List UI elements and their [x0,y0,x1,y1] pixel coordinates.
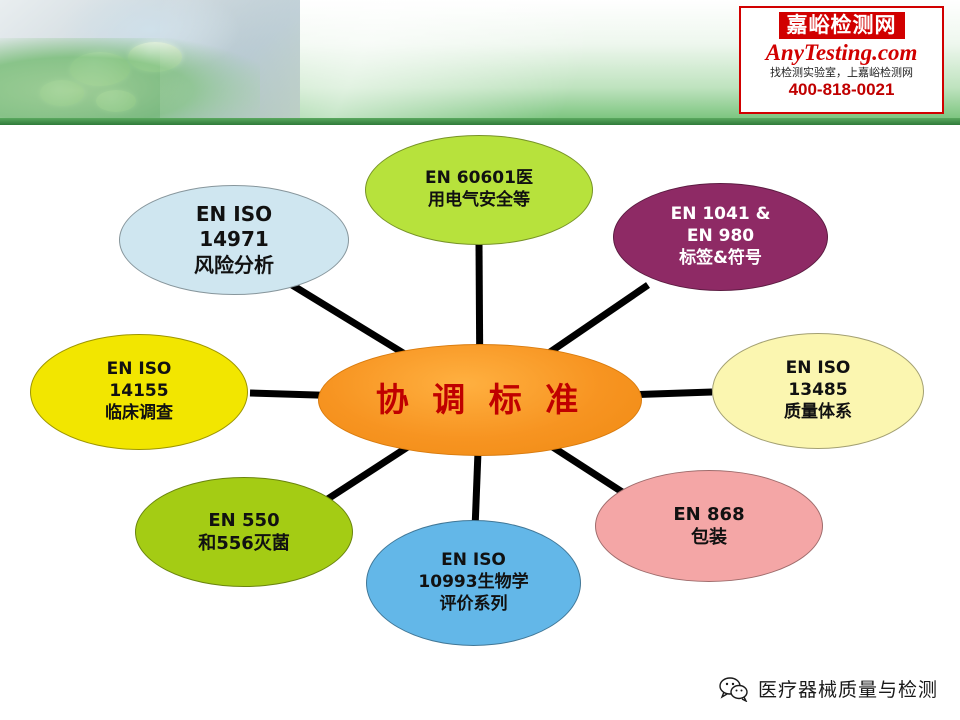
footer-account: 医疗器械质量与检测 [719,675,938,702]
node-line: EN ISO [107,359,172,381]
node-en-iso-14971[interactable]: EN ISO 14971 风险分析 [119,185,349,295]
logo-english-name: AnyTesting.com [741,40,942,65]
node-line: EN 60601医 [425,168,533,190]
node-line: 标签&符号 [679,248,762,270]
logo-phone-number: 400-818-0021 [741,81,942,100]
logo-chinese-name: 嘉峪检测网 [779,12,905,39]
node-line: 14155 [109,381,168,403]
hub-and-spoke-diagram: EN 60601医 用电气安全等 EN ISO 14971 风险分析 EN 10… [0,125,960,720]
node-line: EN 1041 & [671,204,771,226]
node-line: EN 980 [687,226,754,248]
site-logo[interactable]: 嘉峪检测网 AnyTesting.com 找检测实验室，上嘉峪检测网 400-8… [739,6,944,114]
node-line: EN 550 [208,509,279,532]
node-line: 风险分析 [194,253,274,279]
node-line: 包装 [691,526,727,549]
node-line: EN ISO [786,358,851,380]
node-line: 用电气安全等 [428,190,530,212]
node-en-60601[interactable]: EN 60601医 用电气安全等 [365,135,593,245]
slide-canvas: 嘉峪检测网 AnyTesting.com 找检测实验室，上嘉峪检测网 400-8… [0,0,960,720]
node-en-1041-en-980[interactable]: EN 1041 & EN 980 标签&符号 [613,183,828,291]
node-line: 和556灭菌 [198,532,290,555]
node-en-iso-10993[interactable]: EN ISO 10993生物学 评价系列 [366,520,581,646]
node-line: EN ISO [196,202,272,228]
header-divider [0,118,960,125]
node-en-iso-13485[interactable]: EN ISO 13485 质量体系 [712,333,924,449]
node-en-868[interactable]: EN 868 包装 [595,470,823,582]
node-line: 13485 [788,380,847,402]
diagram-center-hub[interactable]: 协 调 标 准 [318,344,642,456]
footer-account-name: 医疗器械质量与检测 [758,675,938,702]
logo-tagline: 找检测实验室，上嘉峪检测网 [741,66,942,79]
node-line: 10993生物学 [418,572,528,594]
node-line: EN ISO [441,550,506,572]
node-line: 质量体系 [784,402,852,424]
center-hub-label: 协 调 标 准 [376,379,584,421]
node-en-550-556[interactable]: EN 550 和556灭菌 [135,477,353,587]
node-line: 临床调查 [105,403,173,425]
node-line: EN 868 [673,503,744,526]
node-line: 14971 [199,227,269,253]
node-line: 评价系列 [440,594,508,616]
wechat-icon [719,676,749,702]
node-en-iso-14155[interactable]: EN ISO 14155 临床调查 [30,334,248,450]
